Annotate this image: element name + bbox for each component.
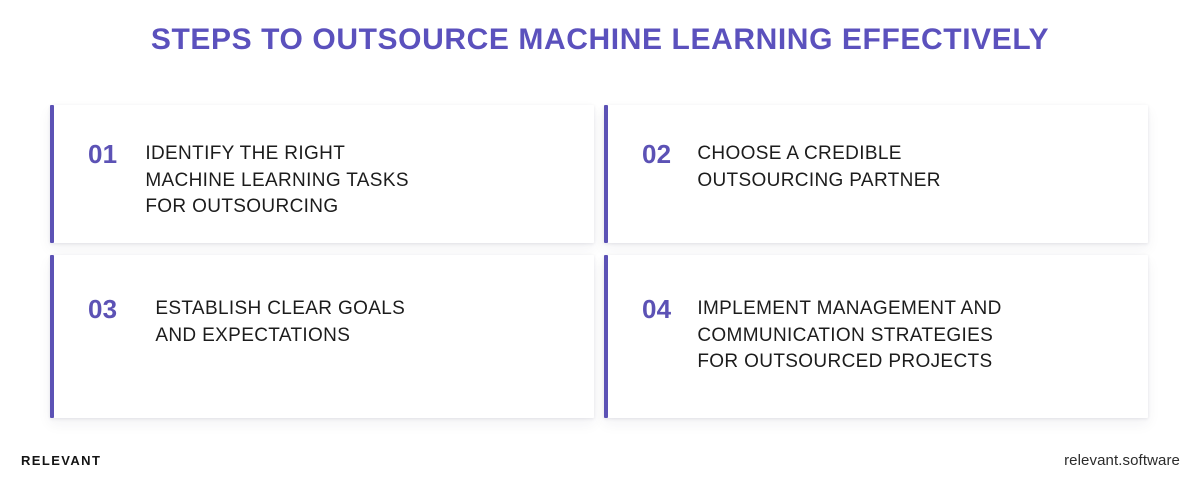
infographic-root: Steps To Outsource Machine Learning Effe… (0, 0, 1200, 484)
step-card-01: 01 Identify the right machine learning t… (50, 105, 594, 243)
step-card-body: 03 Establish clear goals and expectation… (50, 255, 423, 349)
footer: Relevant relevant.software (0, 447, 1200, 484)
step-number-02: 02 (642, 141, 671, 168)
accent-bar-icon (50, 255, 54, 418)
step-number-04: 04 (642, 296, 671, 323)
page-title: Steps To Outsource Machine Learning Effe… (0, 22, 1200, 58)
step-text-04: Implement management and communication s… (697, 296, 1001, 376)
step-card-body: 01 Identify the right machine learning t… (50, 105, 427, 221)
brand-website-url: relevant.software (1064, 452, 1180, 470)
step-number-01: 01 (88, 141, 117, 168)
accent-bar-icon (50, 105, 54, 243)
step-text-02: Choose a credible outsourcing partner (697, 141, 940, 194)
step-card-02: 02 Choose a credible outsourcing partner (604, 105, 1148, 243)
accent-bar-icon (604, 255, 608, 418)
step-card-03: 03 Establish clear goals and expectation… (50, 255, 594, 418)
accent-bar-icon (604, 105, 608, 243)
brand-logo-text: Relevant (21, 453, 101, 469)
step-card-04: 04 Implement management and communicatio… (604, 255, 1148, 418)
step-text-01: Identify the right machine learning task… (145, 141, 409, 221)
steps-card-grid: 01 Identify the right machine learning t… (50, 105, 1148, 418)
step-text-03: Establish clear goals and expectations (155, 296, 405, 349)
step-card-body: 02 Choose a credible outsourcing partner (604, 105, 959, 194)
title-container: Steps To Outsource Machine Learning Effe… (0, 22, 1200, 58)
step-card-body: 04 Implement management and communicatio… (604, 255, 1020, 376)
step-number-03: 03 (88, 296, 117, 323)
